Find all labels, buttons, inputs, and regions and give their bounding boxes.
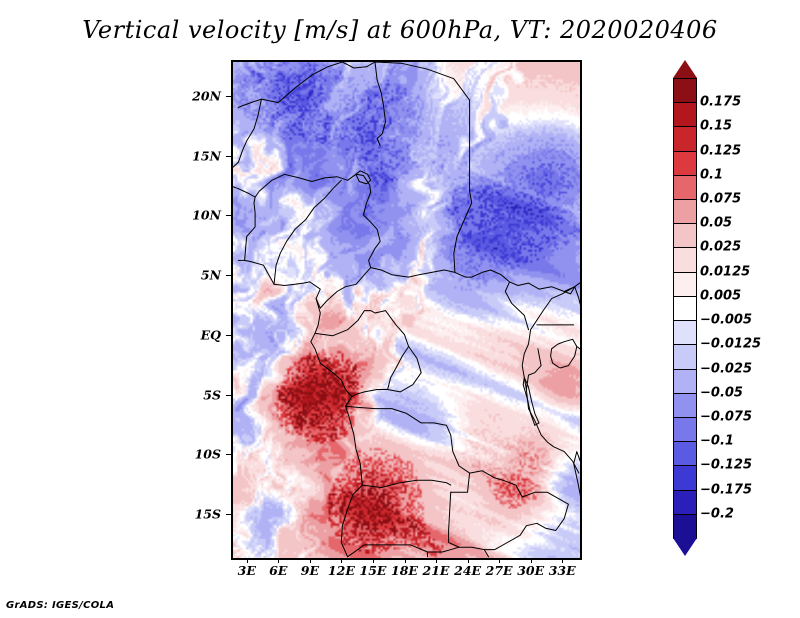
- x-axis-label: 6E: [269, 563, 287, 578]
- y-axis-label: 10N: [192, 208, 221, 223]
- colorbar: [673, 78, 697, 538]
- x-axis-label: 27E: [486, 563, 513, 578]
- colorbar-tick-label: −0.05: [700, 385, 743, 400]
- x-axis-label: 3E: [238, 563, 256, 578]
- y-axis-tick: [226, 454, 231, 455]
- colorbar-swatch: [673, 102, 697, 127]
- x-axis-label: 21E: [423, 563, 450, 578]
- colorbar-swatch: [673, 247, 697, 272]
- colorbar-tick-label: 0.05: [700, 216, 732, 231]
- y-axis-tick: [226, 156, 231, 157]
- colorbar-cap-top-icon: [673, 60, 697, 78]
- colorbar-swatch: [673, 393, 697, 418]
- colorbar-tick-label: −0.1: [700, 434, 734, 449]
- colorbar-swatch: [673, 151, 697, 176]
- colorbar-swatch: [673, 296, 697, 321]
- colorbar-tick-label: 0.1: [700, 167, 723, 182]
- page-title: Vertical velocity [m/s] at 600hPa, VT: 2…: [0, 16, 800, 44]
- x-axis-label: 18E: [391, 563, 418, 578]
- y-axis-tick: [226, 395, 231, 396]
- colorbar-tick-label: 0.15: [700, 119, 732, 134]
- x-axis-label: 9E: [301, 563, 319, 578]
- colorbar-swatch: [673, 272, 697, 297]
- colorbar-tick-label: 0.175: [700, 95, 741, 110]
- map-plot-area: [231, 60, 582, 560]
- colorbar-swatch: [673, 223, 697, 248]
- y-axis-label: 10S: [195, 447, 221, 462]
- vertical-velocity-heatmap: [233, 62, 580, 558]
- colorbar-swatch: [673, 514, 697, 539]
- colorbar-tick-label: 0.0125: [700, 264, 750, 279]
- colorbar-swatch: [673, 441, 697, 466]
- colorbar-swatch: [673, 344, 697, 369]
- y-axis-label: 20N: [192, 88, 221, 103]
- colorbar-tick-label: 0.075: [700, 192, 741, 207]
- colorbar-tick-label: −0.005: [700, 313, 752, 328]
- colorbar-cap-bottom-icon: [673, 538, 697, 556]
- colorbar-tick-label: 0.025: [700, 240, 741, 255]
- colorbar-swatch: [673, 320, 697, 345]
- x-axis-label: 33E: [549, 563, 576, 578]
- x-axis-label: 15E: [360, 563, 387, 578]
- colorbar-tick-label: −0.0125: [700, 337, 761, 352]
- colorbar-tick-label: 0.005: [700, 288, 741, 303]
- y-axis-tick: [226, 335, 231, 336]
- colorbar-swatch: [673, 465, 697, 490]
- y-axis-label: 5N: [201, 268, 221, 283]
- colorbar-tick-label: 0.125: [700, 143, 741, 158]
- y-axis-label: 15N: [192, 148, 221, 163]
- colorbar-tick-label: −0.175: [700, 482, 752, 497]
- colorbar-tick-label: −0.025: [700, 361, 752, 376]
- colorbar-swatch: [673, 199, 697, 224]
- y-axis-tick: [226, 96, 231, 97]
- colorbar-swatch: [673, 175, 697, 200]
- colorbar-swatch: [673, 417, 697, 442]
- colorbar-swatch: [673, 369, 697, 394]
- y-axis-tick: [226, 215, 231, 216]
- y-axis-label: EQ: [201, 327, 221, 342]
- y-axis-label: 15S: [195, 507, 221, 522]
- footer-credit: GrADS: IGES/COLA: [6, 600, 114, 611]
- y-axis-tick: [226, 514, 231, 515]
- colorbar-swatch: [673, 490, 697, 515]
- colorbar-tick-label: −0.125: [700, 458, 752, 473]
- y-axis-tick: [226, 275, 231, 276]
- colorbar-tick-label: −0.2: [700, 506, 734, 521]
- x-axis-label: 30E: [517, 563, 544, 578]
- x-axis-label: 12E: [328, 563, 355, 578]
- x-axis-label: 24E: [454, 563, 481, 578]
- colorbar-tick-label: −0.075: [700, 409, 752, 424]
- colorbar-swatch: [673, 126, 697, 151]
- y-axis-label: 5S: [203, 387, 221, 402]
- colorbar-swatch: [673, 78, 697, 103]
